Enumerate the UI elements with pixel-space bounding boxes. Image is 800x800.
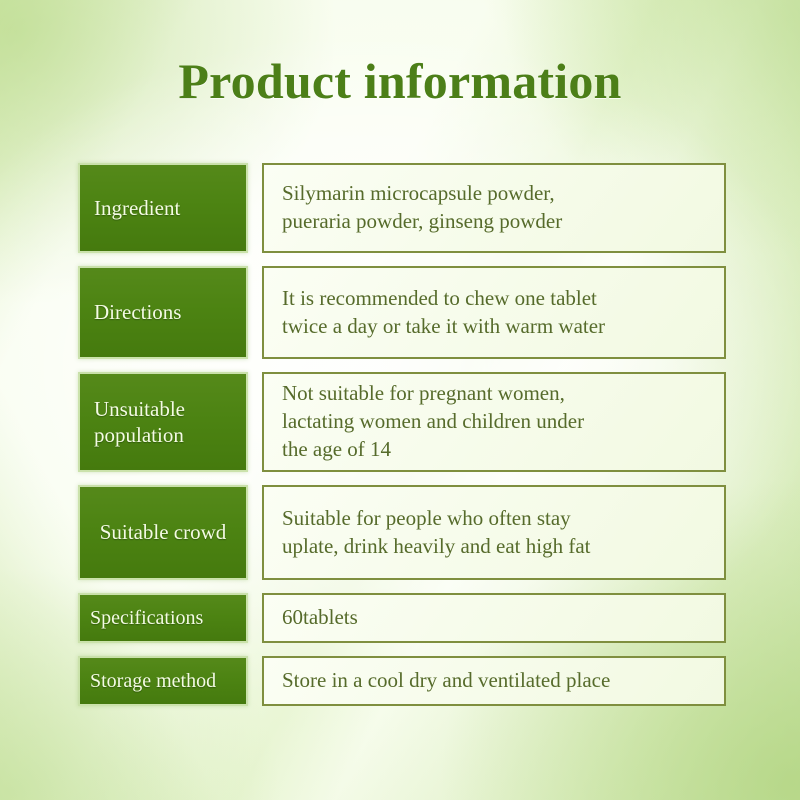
row-label-storage-method: Storage method — [78, 656, 248, 706]
row-label-text: Directions — [94, 299, 181, 325]
table-row: Storage method Store in a cool dry and v… — [78, 656, 726, 706]
row-label-text: Ingredient — [94, 195, 180, 221]
row-content-ingredient: Silymarin microcapsule powder, pueraria … — [262, 163, 726, 253]
content-line: Store in a cool dry and ventilated place — [282, 667, 610, 695]
row-content-suitable-crowd: Suitable for people who often stay uplat… — [262, 485, 726, 580]
row-content-storage-method: Store in a cool dry and ventilated place — [262, 656, 726, 706]
row-content-text: Silymarin microcapsule powder, pueraria … — [282, 180, 562, 235]
row-label-ingredient: Ingredient — [78, 163, 248, 253]
row-content-text: Suitable for people who often stay uplat… — [282, 505, 590, 560]
row-label-line: population — [94, 423, 184, 447]
row-label-specifications: Specifications — [78, 593, 248, 643]
row-label-directions: Directions — [78, 266, 248, 359]
content-line: Silymarin microcapsule powder, — [282, 180, 562, 208]
row-label-text: Storage method — [90, 669, 216, 694]
row-label-unsuitable-population: Unsuitable population — [78, 372, 248, 472]
row-label-text: Suitable crowd — [100, 519, 227, 545]
row-label-text: Unsuitable population — [94, 396, 232, 449]
row-content-specifications: 60tablets — [262, 593, 726, 643]
row-content-directions: It is recommended to chew one tablet twi… — [262, 266, 726, 359]
content-line: Suitable for people who often stay — [282, 505, 590, 533]
row-content-unsuitable-population: Not suitable for pregnant women, lactati… — [262, 372, 726, 472]
row-label-line: Suitable — [100, 520, 169, 544]
content-line: 60tablets — [282, 604, 358, 632]
row-content-text: Not suitable for pregnant women, lactati… — [282, 380, 584, 463]
content-line: the age of 14 — [282, 436, 584, 464]
content-line: lactating women and children under — [282, 408, 584, 436]
row-label-suitable-crowd: Suitable crowd — [78, 485, 248, 580]
row-label-line: crowd — [174, 520, 226, 544]
table-row: Directions It is recommended to chew one… — [78, 266, 726, 359]
page-title: Product information — [0, 52, 800, 110]
table-row: Ingredient Silymarin microcapsule powder… — [78, 163, 726, 253]
content-line: uplate, drink heavily and eat high fat — [282, 533, 590, 561]
product-information-page: Product information Ingredient Silymarin… — [0, 0, 800, 800]
content-line: Not suitable for pregnant women, — [282, 380, 584, 408]
table-row: Suitable crowd Suitable for people who o… — [78, 485, 726, 580]
product-information-table: Ingredient Silymarin microcapsule powder… — [78, 163, 726, 706]
table-row: Specifications 60tablets — [78, 593, 726, 643]
table-row: Unsuitable population Not suitable for p… — [78, 372, 726, 472]
row-label-line: Unsuitable — [94, 397, 185, 421]
row-label-text: Specifications — [90, 606, 203, 631]
row-content-text: It is recommended to chew one tablet twi… — [282, 285, 605, 340]
content-line: pueraria powder, ginseng powder — [282, 208, 562, 236]
row-content-text: Store in a cool dry and ventilated place — [282, 667, 610, 695]
content-line: twice a day or take it with warm water — [282, 313, 605, 341]
content-line: It is recommended to chew one tablet — [282, 285, 605, 313]
row-content-text: 60tablets — [282, 604, 358, 632]
